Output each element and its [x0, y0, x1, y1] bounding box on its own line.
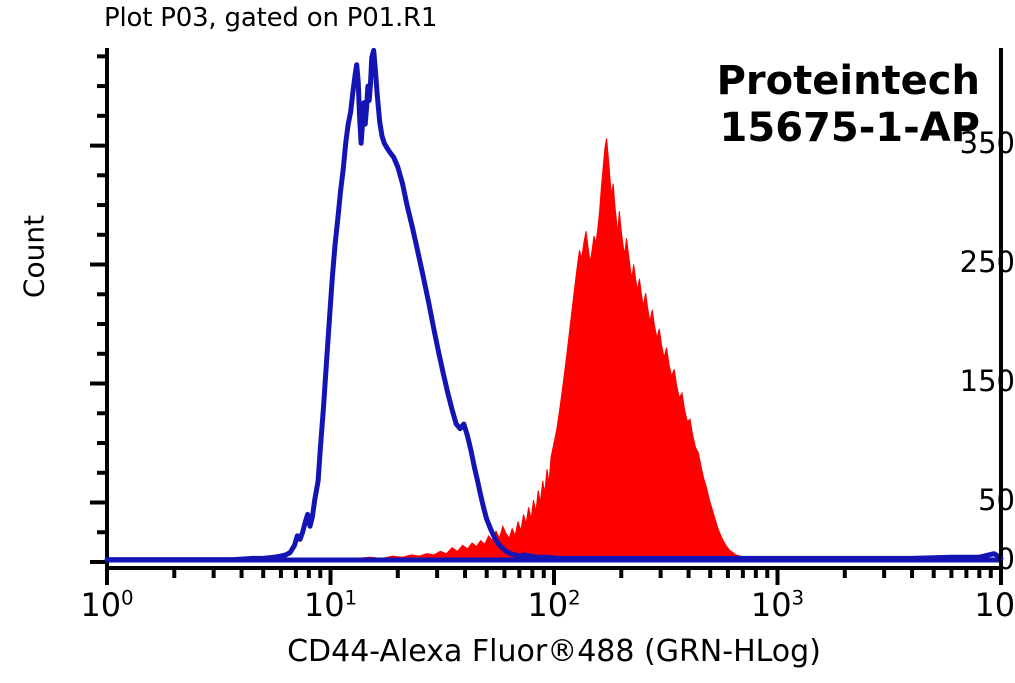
- y-axis-tick-label: 250: [943, 245, 1015, 279]
- x-axis-tick-label: 101: [304, 586, 357, 624]
- x-axis-tick-label: 103: [751, 586, 804, 624]
- watermark-catalog: 15675-1-AP: [660, 105, 980, 152]
- histogram-series-filled: [107, 138, 1001, 562]
- y-axis-tick-label: 350: [943, 126, 1015, 160]
- y-axis-tick-label: 0: [943, 542, 1015, 576]
- watermark: Proteintech 15675-1-AP: [660, 58, 980, 152]
- x-axis-tick-label: 104: [974, 586, 1015, 624]
- x-axis-label: CD44-Alexa Fluor®488 (GRN-HLog): [107, 634, 1001, 669]
- x-axis-tick-label: 100: [80, 586, 133, 624]
- flow-cytometry-histogram-page: Plot P03, gated on P01.R1 Proteintech 15…: [0, 0, 1015, 683]
- x-axis-tick-label: 102: [527, 586, 580, 624]
- watermark-brand: Proteintech: [660, 58, 980, 105]
- y-axis-label: Count: [18, 197, 51, 317]
- y-axis-tick-label: 50: [943, 483, 1015, 517]
- y-axis-tick-label: 150: [943, 364, 1015, 398]
